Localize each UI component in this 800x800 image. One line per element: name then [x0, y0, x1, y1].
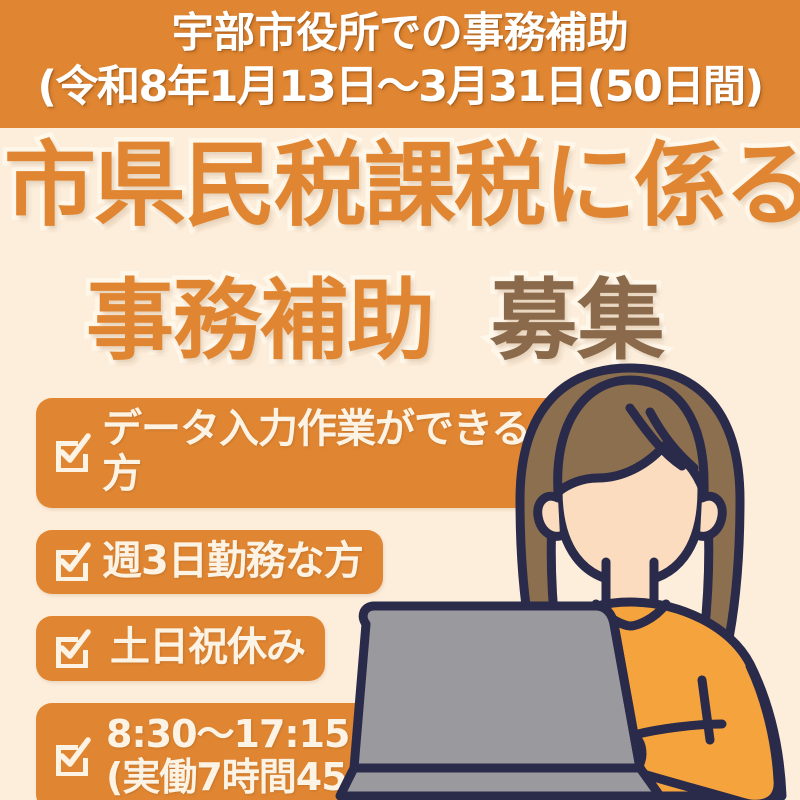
laptop-hinge-line	[614, 624, 640, 768]
headline-line-1: 市県民税課税に係る	[0, 140, 800, 232]
ear-right	[700, 496, 722, 536]
checklist-pill-2[interactable]: 週3日勤務な方	[36, 530, 383, 595]
hair-strand-2	[650, 412, 694, 468]
checkbox-checked-icon	[52, 432, 92, 472]
checklist-pill-4[interactable]: 8:30〜17:15 (実働7時間45分)	[36, 703, 420, 800]
checkbox-checked-icon	[52, 736, 92, 776]
header-band: 宇部市役所での事務補助 (令和8年1月13日〜3月31日(50日間)	[0, 0, 800, 128]
list-item: 8:30〜17:15 (実働7時間45分)	[36, 703, 576, 800]
header-subtitle-line-2: (令和8年1月13日〜3月31日(50日間)	[37, 66, 762, 109]
headline-line-2: 事務補助募集	[0, 250, 800, 377]
headline-line-2-accent: 募集	[490, 269, 664, 372]
checkbox-checked-icon	[52, 628, 92, 668]
sweater-collar	[596, 604, 666, 626]
checklist-label-2: 週3日勤務な方	[102, 539, 363, 584]
checkbox-checked-icon	[52, 541, 92, 581]
checklist-label-1: データ入力作業ができる方	[102, 407, 556, 497]
list-item: 週3日勤務な方	[36, 530, 576, 595]
face	[558, 398, 702, 582]
arm-right	[617, 666, 779, 800]
checklist-label-4: 8:30〜17:15 (実働7時間45分)	[106, 713, 400, 798]
headline-line-2-main: 事務補助	[86, 269, 434, 372]
checklist-pill-1[interactable]: データ入力作業ができる方	[36, 398, 576, 508]
checklist-label-3: 土日祝休み	[110, 625, 305, 670]
header-subtitle-line-1: 宇部市役所での事務補助	[172, 12, 629, 54]
checklist: データ入力作業ができる方 週3日勤務な方	[36, 398, 576, 800]
poster-canvas: 宇部市役所での事務補助 (令和8年1月13日〜3月31日(50日間) 市県民税課…	[0, 0, 800, 800]
checklist-pill-3[interactable]: 土日祝休み	[36, 616, 325, 681]
headline-block: 市県民税課税に係る 事務補助募集	[0, 132, 800, 377]
list-item: データ入力作業ができる方	[36, 398, 576, 508]
list-item: 土日祝休み	[36, 616, 576, 681]
hair-bangs	[558, 380, 704, 492]
finger-lines	[572, 762, 612, 794]
sleeve-seam-right	[702, 680, 710, 740]
neck	[606, 562, 654, 606]
hair-strand-1	[630, 408, 682, 466]
